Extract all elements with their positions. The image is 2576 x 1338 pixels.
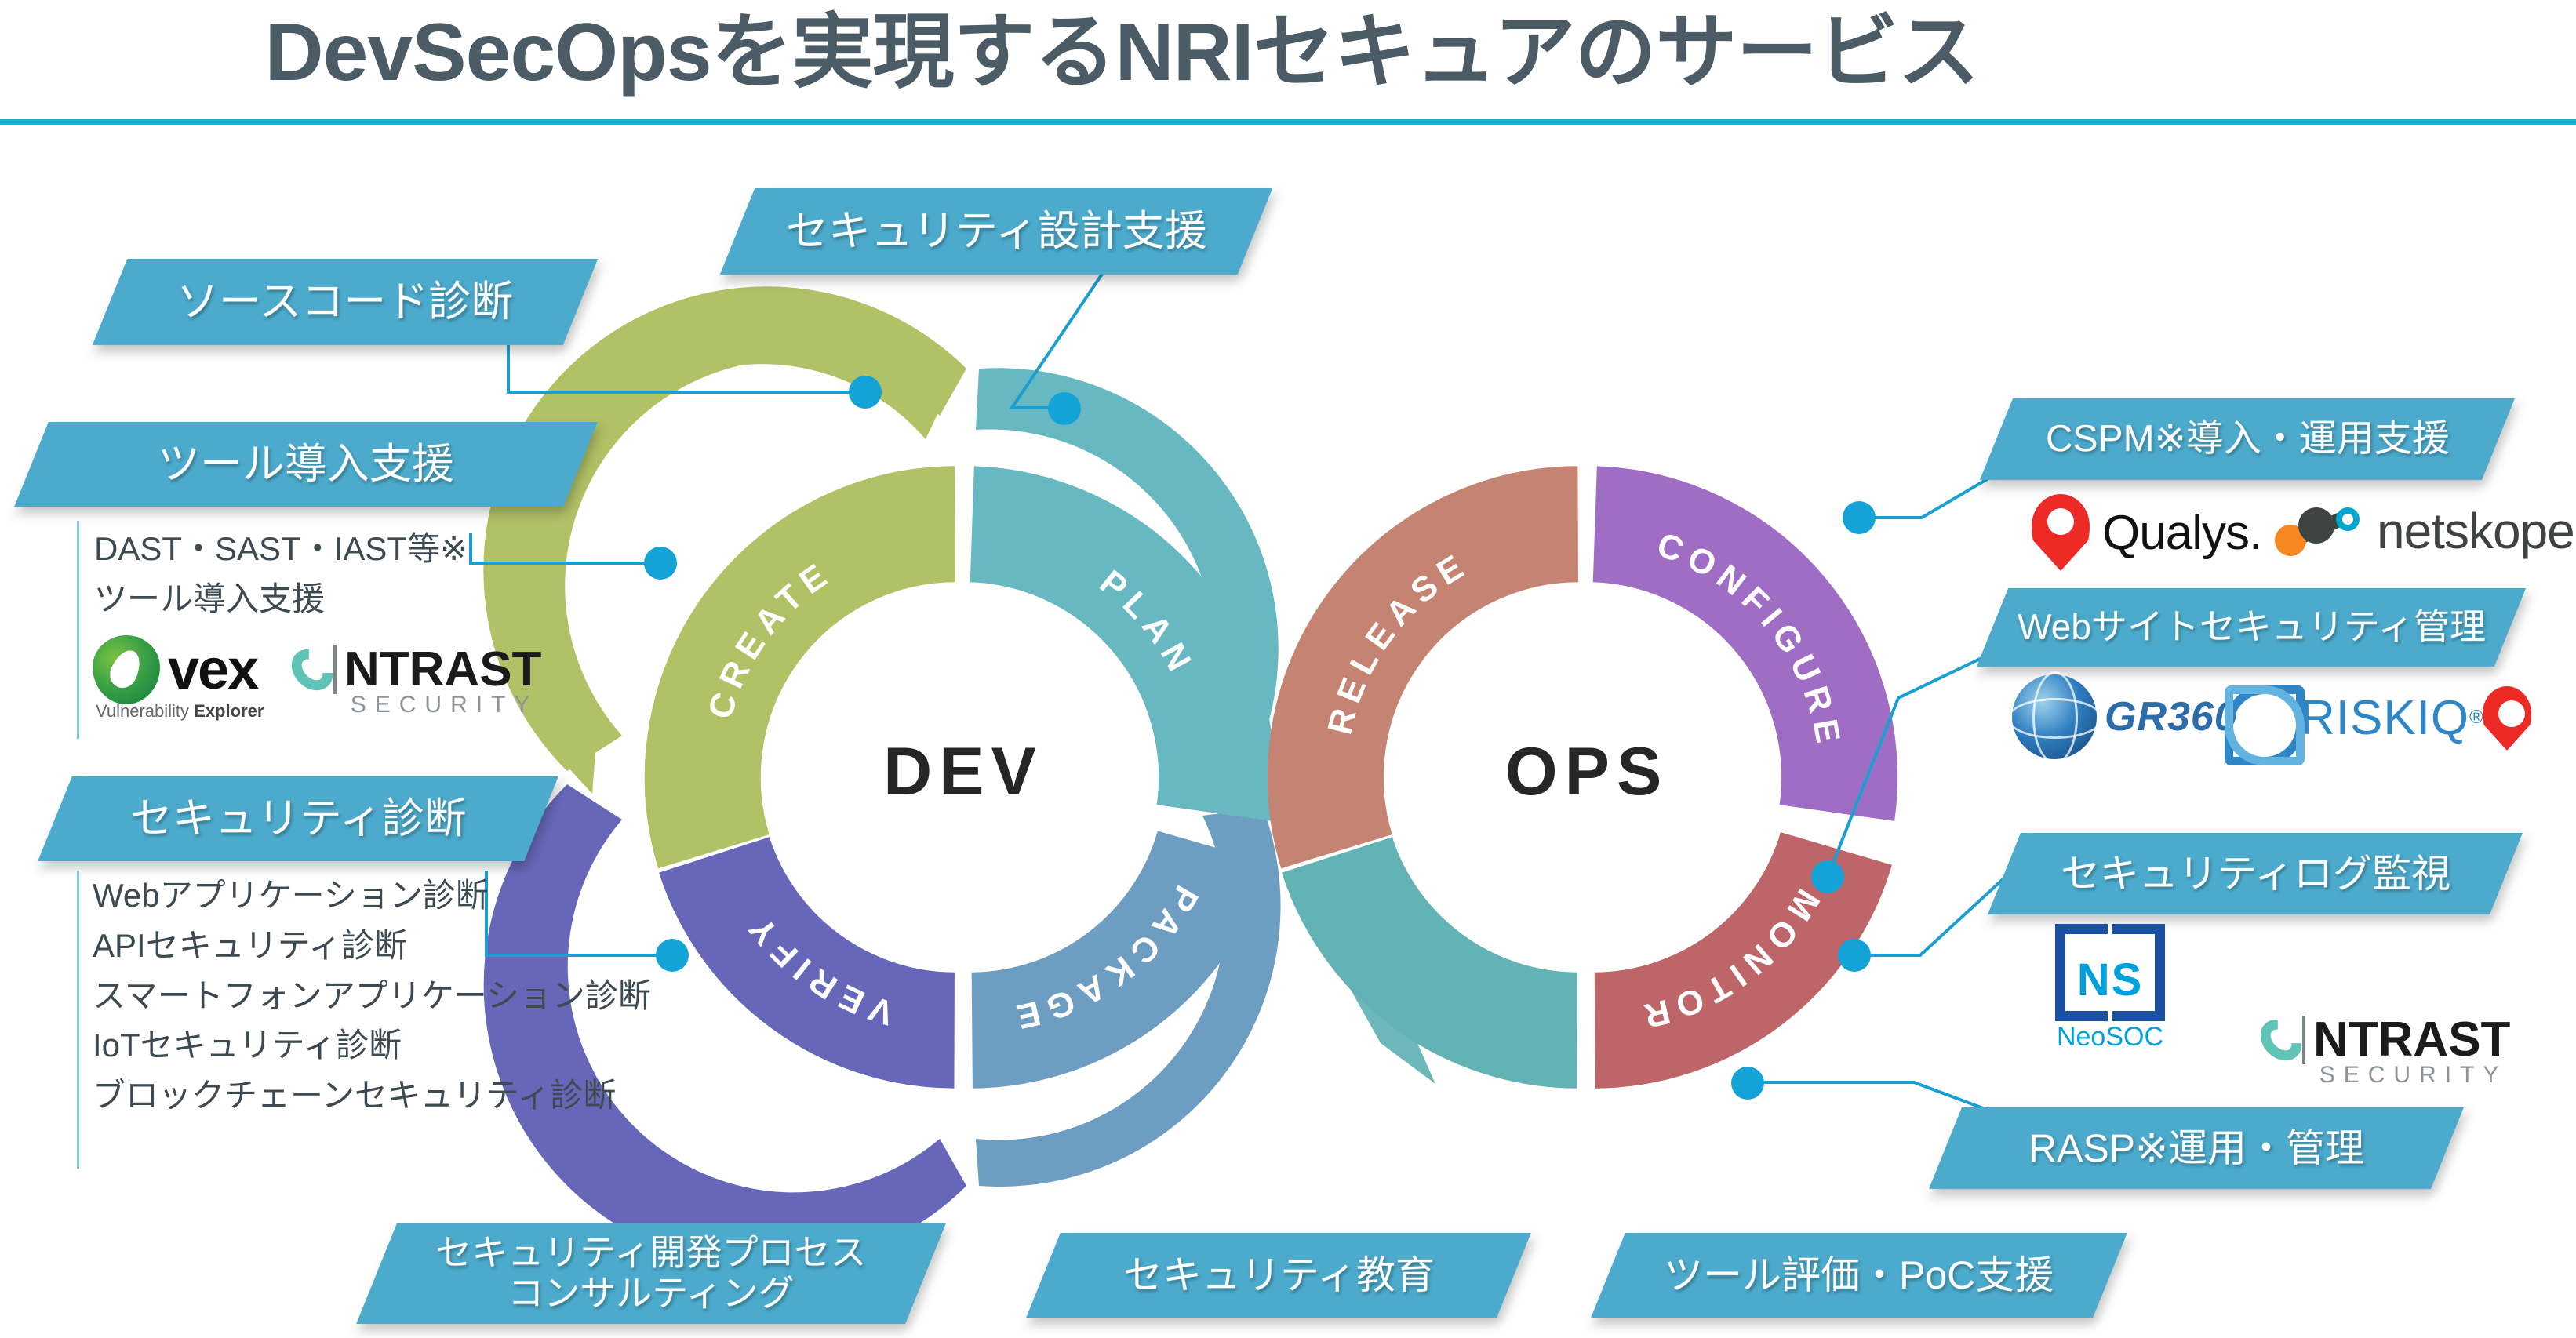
- dot-create-top: [849, 376, 882, 409]
- vex-leaf-icon: [93, 635, 160, 704]
- vex-tagline: Vulnerability Explorer: [96, 701, 264, 722]
- dot-monitor-bottom: [1731, 1067, 1764, 1100]
- logo-contrast-security-right: NTRAST SECURITY: [2263, 1012, 2510, 1067]
- contrast-divider-icon: [2302, 1016, 2305, 1064]
- gr360-wordmark: GR360: [2105, 693, 2238, 740]
- riskiq-mark-icon: [2220, 681, 2294, 754]
- logo-gr360: GR360: [2012, 674, 2238, 759]
- contrast-wordmark: NTRAST: [2313, 1012, 2510, 1067]
- dot-configure: [1843, 501, 1876, 534]
- dot-verify: [656, 939, 689, 972]
- dot-create-left: [644, 547, 677, 580]
- neosoc-bracket-icon: NS NeoSOC: [2055, 924, 2165, 1042]
- vex-wordmark: vex: [168, 638, 257, 702]
- riskiq-wordmark: RISKIQ: [2300, 690, 2469, 746]
- neosoc-letters: NS: [2055, 954, 2165, 1006]
- logo-netskope: netskope: [2275, 502, 2574, 560]
- logo-neosoc: NS NeoSOC: [2055, 924, 2165, 1042]
- banner-website-security-mgmt[interactable]: Webサイトセキュリティ管理: [1977, 588, 2526, 667]
- list-item: スマートフォンアプリケーション診断: [93, 971, 651, 1021]
- banner-source-code-review[interactable]: ソースコード診断: [93, 259, 598, 345]
- banner-tool-eval-poc[interactable]: ツール評価・PoC支援: [1591, 1233, 2127, 1318]
- dot-monitor: [1838, 939, 1871, 972]
- tool-adoption-line-1: ツール導入支援: [94, 574, 468, 624]
- logo-qualys: Qualys.: [2032, 494, 2261, 571]
- tool-adoption-line-0: DAST・SAST・IAST等※: [94, 524, 468, 574]
- logo-vex: vex Vulnerability Explorer: [93, 635, 257, 704]
- banner-security-assessment[interactable]: セキュリティ診断: [38, 776, 558, 861]
- list-item: ブロックチェーンセキュリティ診断: [93, 1071, 651, 1121]
- banner-security-education[interactable]: セキュリティ教育: [1026, 1233, 1531, 1318]
- gr360-globe-icon: [2012, 674, 2097, 759]
- qualys-pin-icon: [2032, 494, 2090, 571]
- logo-riskiq: RISKIQ ®: [2220, 681, 2483, 754]
- riskiq-registered-mark: ®: [2469, 707, 2483, 729]
- dev-center-label: DEV: [883, 734, 1043, 809]
- list-item: APIセキュリティ診断: [93, 921, 651, 971]
- netskope-mark-icon: [2275, 506, 2366, 556]
- banner-tool-adoption-support[interactable]: ツール導入支援: [14, 422, 598, 507]
- banner-security-log-monitoring[interactable]: セキュリティログ監視: [1988, 833, 2523, 914]
- list-item: IoTセキュリティ診断: [93, 1020, 651, 1071]
- qualys-wordmark: Qualys.: [2102, 505, 2261, 561]
- banner-rasp-ops-mgmt[interactable]: RASP※運用・管理: [1929, 1107, 2464, 1189]
- dot-configure-lower: [1811, 860, 1844, 893]
- contrast-divider-icon: [333, 645, 337, 694]
- security-assessment-rule: [77, 871, 79, 1169]
- banner-cspm-support[interactable]: CSPM※導入・運用支援: [1980, 398, 2515, 480]
- ops-center-label: OPS: [1505, 734, 1669, 809]
- logo-contrast-security-left: NTRAST SECURITY: [294, 642, 541, 697]
- contrast-subtitle: SECURITY: [2319, 1062, 2508, 1089]
- netskope-wordmark: netskope: [2377, 502, 2574, 560]
- banner-security-design-support[interactable]: セキュリティ設計支援: [720, 188, 1272, 275]
- banner-secure-dev-process-consulting[interactable]: セキュリティ開発プロセス コンサルティング: [356, 1223, 946, 1324]
- tool-adoption-rule: [77, 521, 79, 739]
- slide-canvas: DevSecOpsを実現するNRIセキュアのサービス: [0, 0, 2576, 1338]
- list-item: Webアプリケーション診断: [93, 871, 651, 921]
- contrast-wordmark: NTRAST: [344, 642, 541, 697]
- dot-plan: [1048, 392, 1081, 425]
- security-assessment-list: Webアプリケーション診断 APIセキュリティ診断 スマートフォンアプリケーショ…: [93, 871, 651, 1121]
- qualys-pin-icon-small: [2483, 686, 2531, 751]
- neosoc-wordmark: NeoSOC: [2055, 1022, 2165, 1053]
- contrast-subtitle: SECURITY: [351, 692, 539, 718]
- logo-qualys-mark: [2483, 686, 2531, 751]
- tool-adoption-text: DAST・SAST・IAST等※ ツール導入支援: [94, 524, 468, 624]
